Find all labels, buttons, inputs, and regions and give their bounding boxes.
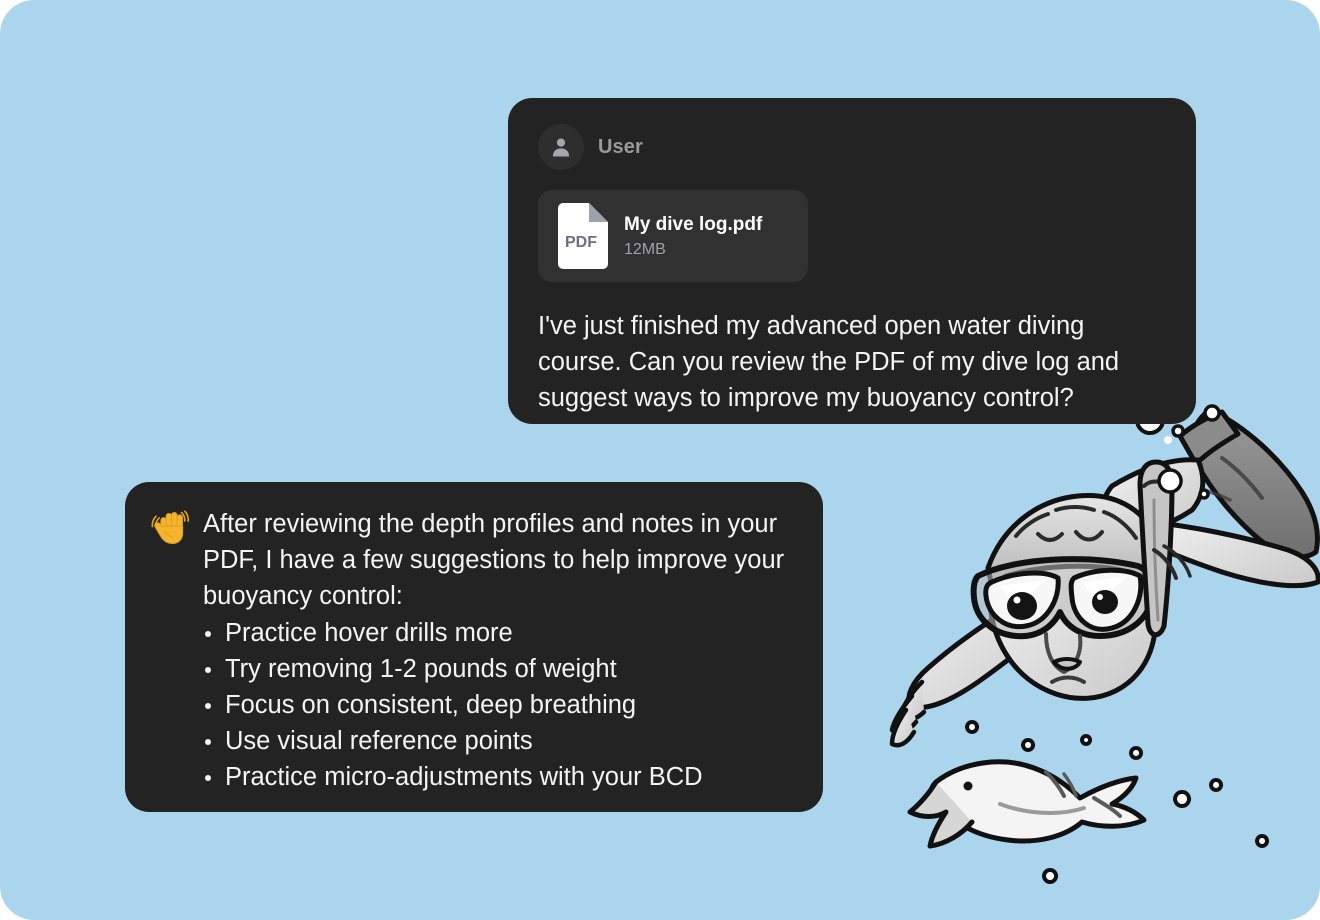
waving-hand-emoji	[151, 507, 191, 547]
air-bubbles	[967, 407, 1267, 882]
diver-figure	[892, 407, 1318, 882]
assistant-intro-text: After reviewing the depth profiles and n…	[203, 506, 797, 614]
list-item: Practice micro-adjustments with your BCD	[203, 759, 797, 795]
file-name: My dive log.pdf	[624, 214, 762, 236]
list-item: Practice hover drills more	[203, 615, 797, 651]
file-size: 12MB	[624, 241, 762, 259]
person-avatar-icon	[538, 124, 584, 170]
screenshot-canvas: User PDF My dive log.pdf 12MB I've just …	[0, 0, 1320, 920]
list-item: Focus on consistent, deep breathing	[203, 687, 797, 723]
snorkeler-diver-with-fish-illustration	[850, 400, 1320, 920]
user-message-author: User	[598, 136, 643, 159]
user-message-bubble: User PDF My dive log.pdf 12MB I've just …	[508, 98, 1196, 424]
user-message-header: User	[538, 124, 1166, 170]
fish	[910, 762, 1144, 846]
pdf-icon-label: PDF	[565, 234, 597, 251]
list-item: Use visual reference points	[203, 723, 797, 759]
user-message-text: I've just finished my advanced open wate…	[538, 308, 1166, 416]
assistant-suggestion-list: Practice hover drills more Try removing …	[151, 615, 797, 795]
assistant-message-bubble: After reviewing the depth profiles and n…	[125, 482, 823, 812]
list-item: Try removing 1-2 pounds of weight	[203, 651, 797, 687]
file-attachment-card[interactable]: PDF My dive log.pdf 12MB	[538, 190, 808, 282]
pdf-file-icon: PDF	[554, 203, 608, 269]
